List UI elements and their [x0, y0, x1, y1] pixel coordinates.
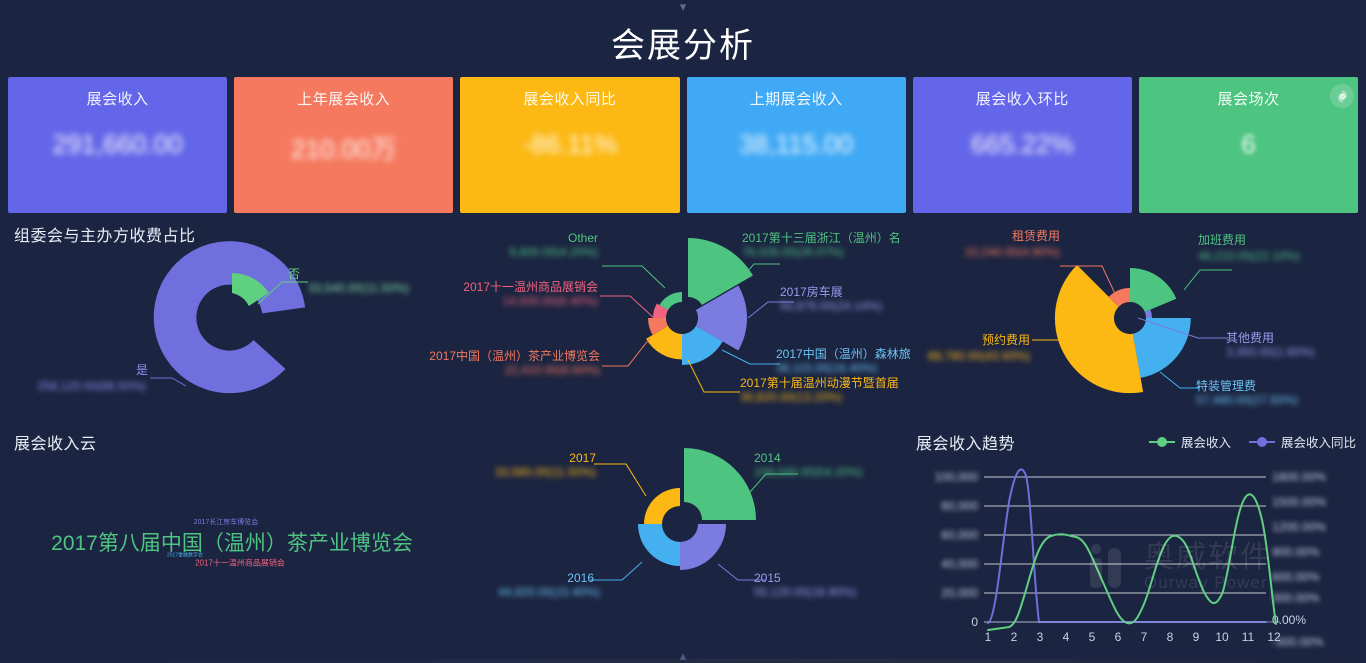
rose-value-2014: 158,040.00(54.20%) — [754, 465, 863, 479]
rose-value-2016: 44,920.00(15.40%) — [498, 585, 600, 599]
rose-value-special-mgmt-fee: 57,480.00(27.50%) — [1196, 393, 1298, 407]
pie-label-no: 否 — [288, 267, 300, 281]
y-right-tick: 600.00% — [1272, 570, 1320, 584]
word-cloud-item[interactable]: 2017十一温州商品展销会 — [195, 558, 285, 569]
y-left-tick: 40,000 — [941, 557, 978, 571]
pie-label-yes: 是 — [136, 363, 148, 377]
x-tick: 8 — [1167, 630, 1174, 644]
chevron-down-icon[interactable]: ▾ — [0, 2, 1366, 12]
legend-item-income-yoy[interactable]: 展会收入同比 — [1249, 432, 1356, 451]
rose-slice-2014[interactable] — [684, 448, 756, 520]
rose-label-zhejiang: 2017第十三届浙江（温州）名 — [742, 230, 901, 245]
panel-income-trend: 展会收入趋势 展会收入 展会收入同比 奥威软件 Ourway Power — [906, 424, 1366, 659]
y-left-tick: 20,000 — [941, 586, 978, 600]
leader-line-yes — [150, 378, 186, 386]
rose-value-rental-fee: 10,240.00(4.90%) — [965, 245, 1060, 259]
rose-slice-booking-fee[interactable] — [1055, 265, 1143, 393]
kpi-value: 665.22% — [913, 129, 1132, 160]
pie-value-no: 33,540.00(11.50%) — [308, 281, 409, 295]
y-left-tick: 60,000 — [941, 528, 978, 542]
word-cloud-item[interactable]: 2017长江房车博览会 — [194, 517, 259, 527]
y-right-tick: 300.00% — [1272, 591, 1320, 605]
leader-line-goods-fair — [600, 296, 654, 318]
x-tick: 7 — [1141, 630, 1148, 644]
rose-value-2015: 55,120.00(18.90%) — [754, 585, 856, 599]
page-title: 会展分析 — [0, 18, 1366, 67]
y-right-tick: 1500.00% — [1272, 495, 1326, 509]
legend-marker-income — [1149, 437, 1175, 447]
kpi-title: 展会收入环比 — [913, 88, 1132, 109]
x-tick: 3 — [1037, 630, 1044, 644]
kpi-value: 210.00万 — [234, 129, 453, 166]
kpi-title: 展会场次 — [1139, 88, 1358, 109]
rose-value-forest: 38,115.00(16.40%) — [776, 361, 877, 375]
y-axis-right: 1800.00% 1500.00% 1200.00% 900.00% 600.0… — [1272, 470, 1326, 649]
year-rose-chart[interactable]: 2014 158,040.00(54.20%) 2015 55,120.00(1… — [450, 424, 910, 659]
leader-line-tea — [602, 338, 650, 366]
rose-label-forest: 2017中国（温州）森林旅 — [776, 346, 911, 361]
y-left-tick: 100,000 — [935, 470, 979, 484]
chart-legend: 展会收入 展会收入同比 — [1149, 432, 1356, 451]
kpi-value: 6 — [1139, 129, 1358, 160]
x-tick: 12 — [1267, 630, 1281, 644]
rose-value-other-fee: 3,350.00(1.60%) — [1226, 345, 1315, 359]
kpi-title: 展会收入 — [8, 88, 227, 109]
rose-value-zhejiang: 76,026.00(26.07%) — [742, 245, 844, 259]
panel-fee-ratio: 组委会与主办方收费占比 否 33,540.00(11.50%) 是 258,12… — [0, 218, 456, 424]
leader-line-other — [602, 266, 665, 288]
leader-line-forest — [722, 350, 780, 364]
x-tick: 6 — [1115, 630, 1122, 644]
kpi-card-prev-period-income[interactable]: 上期展会收入 38,115.00 — [687, 77, 906, 213]
chevron-up-icon[interactable]: ▴ — [0, 651, 1366, 661]
y-right-tick-zero: 0.00% — [1272, 613, 1306, 627]
rose-value-rv-show: 50,876.00(24.14%) — [780, 299, 882, 313]
kpi-card-exhibition-income[interactable]: 展会收入 291,660.00 — [8, 77, 227, 213]
rose-slice-overtime-fee[interactable] — [1130, 268, 1176, 312]
kpi-card-income-mom[interactable]: 展会收入环比 665.22% — [913, 77, 1132, 213]
x-tick: 4 — [1063, 630, 1070, 644]
y-right-tick: 1200.00% — [1272, 520, 1326, 534]
income-trend-line-chart[interactable]: 100,000 80,000 60,000 40,000 20,000 0 18… — [906, 424, 1366, 659]
rose-label-rv-show: 2017房车展 — [780, 284, 843, 299]
leader-line-overtime-fee — [1184, 270, 1232, 290]
kpi-title: 上期展会收入 — [687, 88, 906, 109]
kpi-card-row: 展会收入 291,660.00 上年展会收入 210.00万 展会收入同比 -8… — [8, 77, 1358, 213]
legend-label-income: 展会收入 — [1181, 432, 1231, 451]
rose-value-2017: 33,580.00(11.50%) — [495, 465, 596, 479]
rose-value-anime: 30,820.00(13.20%) — [740, 390, 842, 404]
y-left-tick: 80,000 — [941, 499, 978, 513]
leader-line-anime — [688, 360, 740, 392]
rose-label-2015: 2015 — [754, 571, 781, 585]
kpi-card-session-count[interactable]: 展会场次 6 — [1139, 77, 1358, 213]
rose-label-anime: 2017第十届温州动漫节暨首届 — [740, 376, 899, 390]
rose-value-overtime-fee: 46,210.00(22.10%) — [1198, 249, 1300, 263]
fee-ratio-donut-chart[interactable]: 否 33,540.00(11.50%) 是 258,120.00(88.50%) — [0, 218, 456, 424]
y-left-tick: 0 — [971, 615, 978, 629]
y-axis-left: 100,000 80,000 60,000 40,000 20,000 0 — [935, 470, 979, 629]
rose-label-2016: 2016 — [567, 571, 594, 585]
kpi-title: 展会收入同比 — [460, 88, 679, 109]
panel-income-word-cloud: 展会收入云 2017第八届中国（温州）茶产业博览会 2017长江房车博览会 20… — [0, 424, 456, 659]
x-tick: 5 — [1089, 630, 1096, 644]
rose-value-booking-fee: 88,780.00(43.93%) — [928, 349, 1030, 363]
leader-line-special-mgmt-fee — [1160, 372, 1200, 388]
panel-expense-rose: 加班费用 46,210.00(22.10%) 租赁费用 10,240.00(4.… — [912, 218, 1366, 424]
leader-line-2017 — [594, 464, 646, 496]
word-cloud[interactable]: 2017第八届中国（温州）茶产业博览会 2017长江房车博览会 2017金融数字… — [0, 424, 456, 659]
rose-label-2017: 2017 — [569, 451, 596, 465]
rose-value-tea: 22,410.00(9.60%) — [505, 363, 600, 377]
legend-marker-income-yoy — [1249, 437, 1275, 447]
leader-line-2016 — [590, 562, 642, 580]
x-tick: 9 — [1193, 630, 1200, 644]
y-right-tick: 1800.00% — [1272, 470, 1326, 484]
rose-slice-2015[interactable] — [680, 524, 726, 570]
exhibition-income-rose-chart[interactable]: Other 9,800.00(4.20%) 2017第十三届浙江（温州）名 76… — [450, 218, 910, 424]
rose-label-tea: 2017中国（温州）茶产业博览会 — [429, 348, 600, 363]
rose-label-other-fee: 其他费用 — [1226, 331, 1274, 345]
expense-rose-chart[interactable]: 加班费用 46,210.00(22.10%) 租赁费用 10,240.00(4.… — [912, 218, 1366, 424]
word-cloud-item[interactable]: 2017第八届中国（温州）茶产业博览会 — [51, 527, 413, 557]
pie-value-yes: 258,120.00(88.50%) — [37, 379, 146, 393]
rose-label-rental-fee: 租赁费用 — [1012, 229, 1060, 243]
grid-lines — [984, 477, 1266, 622]
rose-value-goods-fair: 14,930.00(6.40%) — [503, 294, 598, 308]
series-line-income-yoy — [988, 469, 1266, 623]
rose-slice-special-mgmt-fee[interactable] — [1133, 318, 1191, 378]
kpi-title: 上年展会收入 — [234, 88, 453, 109]
rose-slice-2017[interactable] — [644, 488, 680, 524]
dashboard-canvas: ▾ 会展分析 展会收入 291,660.00 上年展会收入 210.00万 展会… — [0, 0, 1366, 663]
kpi-value: 291,660.00 — [8, 129, 227, 160]
rose-label-booking-fee: 预约费用 — [982, 332, 1030, 347]
panel-title-income-trend: 展会收入趋势 — [916, 430, 1015, 454]
x-tick: 11 — [1242, 630, 1255, 644]
panel-title-fee-ratio: 组委会与主办方收费占比 — [14, 222, 196, 246]
kpi-value: -86.11% — [460, 129, 679, 160]
rose-label-other: Other — [568, 231, 598, 245]
x-axis-ticks: 1 2 3 4 5 6 7 8 9 10 11 12 — [985, 630, 1281, 644]
x-tick: 10 — [1215, 630, 1229, 644]
rose-label-special-mgmt-fee: 特装管理费 — [1196, 378, 1256, 393]
rose-label-overtime-fee: 加班费用 — [1198, 233, 1246, 247]
legend-item-income[interactable]: 展会收入 — [1149, 432, 1231, 451]
kpi-card-income-yoy[interactable]: 展会收入同比 -86.11% — [460, 77, 679, 213]
x-tick: 1 — [985, 630, 992, 644]
gear-icon[interactable] — [1330, 84, 1354, 108]
rose-slice-2016[interactable] — [638, 524, 680, 566]
kpi-card-last-year-income[interactable]: 上年展会收入 210.00万 — [234, 77, 453, 213]
rose-value-other: 9,800.00(4.20%) — [509, 245, 598, 259]
y-right-tick: 900.00% — [1272, 545, 1320, 559]
kpi-value: 38,115.00 — [687, 129, 906, 160]
rose-label-goods-fair: 2017十一温州商品展销会 — [463, 279, 598, 294]
x-tick: 2 — [1011, 630, 1018, 644]
rose-label-2014: 2014 — [754, 451, 781, 465]
panel-exhibition-income-rose: Other 9,800.00(4.20%) 2017第十三届浙江（温州）名 76… — [450, 218, 910, 424]
legend-label-income-yoy: 展会收入同比 — [1281, 432, 1356, 451]
panel-year-rose: 2014 158,040.00(54.20%) 2015 55,120.00(1… — [450, 424, 910, 659]
